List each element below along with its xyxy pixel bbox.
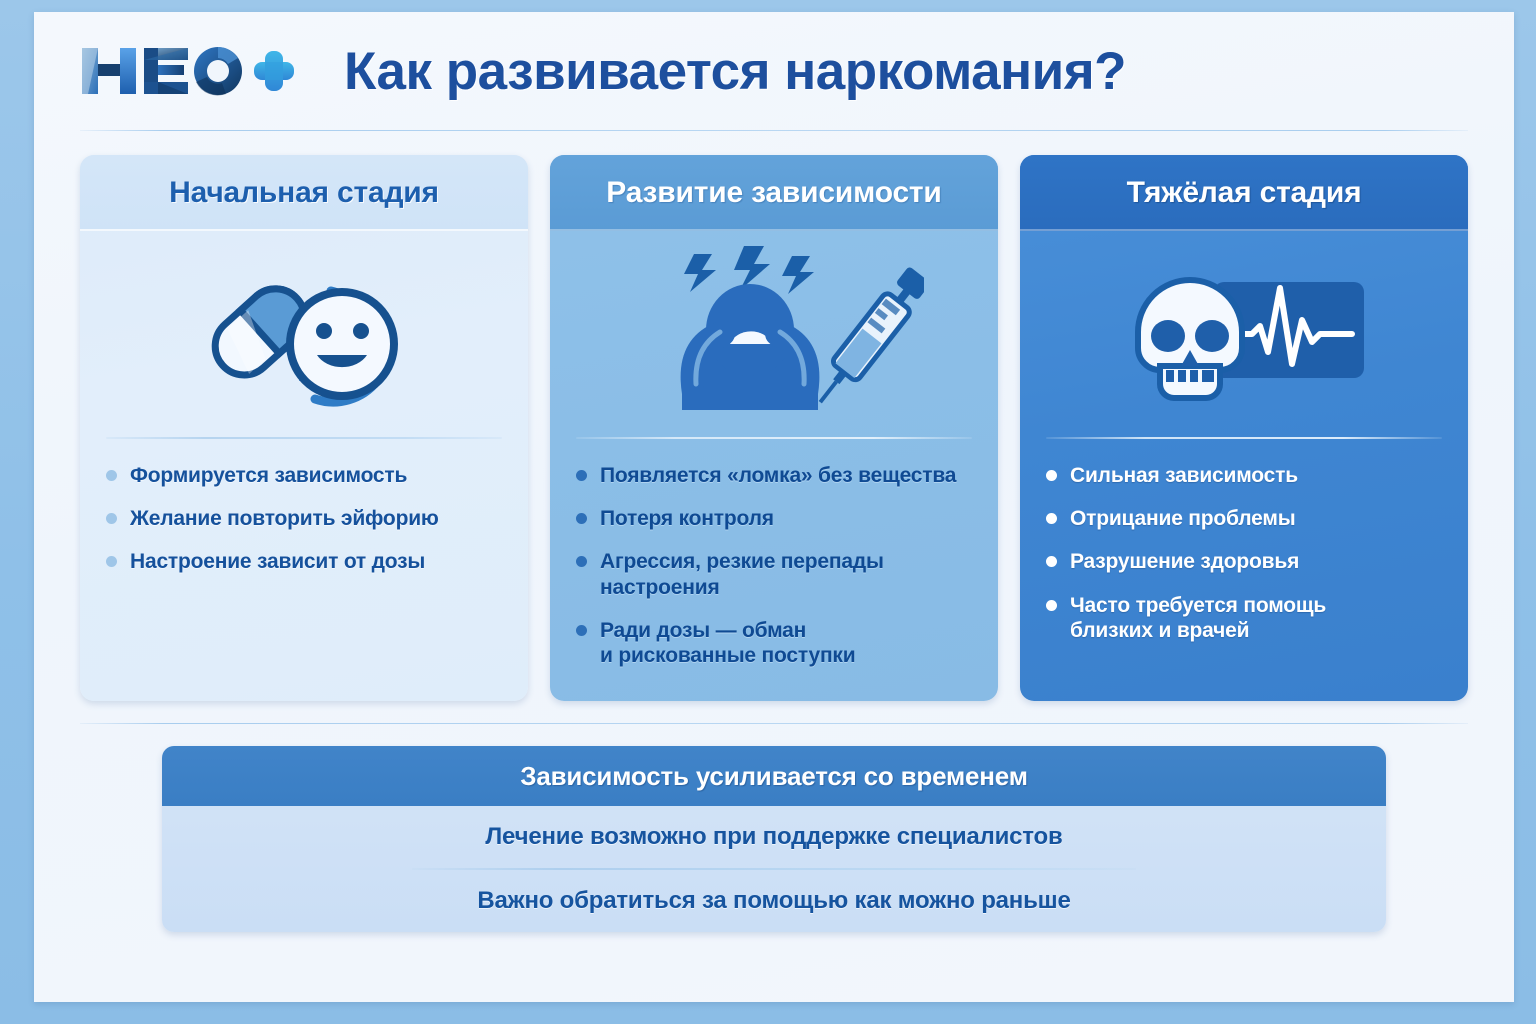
bullet-dot-icon [576,556,587,567]
stage-card-developing[interactable]: Развитие зависимости [550,155,998,701]
list-item-label: Появляется «ломка» без вещества [600,463,956,488]
list-item: Сильная зависимость [1046,463,1442,488]
stage-card-severe-title: Тяжёлая стадия [1020,155,1468,231]
page-panel: Как развивается наркомания? Начальная ст… [34,12,1514,1002]
list-item: Разрушение здоровья [1046,549,1442,574]
stage-card-initial-body: Формируется зависимость Желание повторит… [80,231,528,701]
stage-card-initial-bullets: Формируется зависимость Желание повторит… [80,439,528,575]
stage-card-severe[interactable]: Тяжёлая стадия [1020,155,1468,701]
list-item: Желание повторить эйфорию [106,506,502,531]
list-item: Настроение зависит от дозы [106,549,502,574]
stage-card-severe-bullets: Сильная зависимость Отрицание проблемы Р… [1020,439,1468,643]
list-item: Появляется «ломка» без вещества [576,463,972,488]
stage-card-severe-body: Сильная зависимость Отрицание проблемы Р… [1020,231,1468,701]
list-item-label: Сильная зависимость [1070,463,1298,488]
list-item: Отрицание проблемы [1046,506,1442,531]
bullet-dot-icon [1046,513,1057,524]
bullet-dot-icon [1046,600,1057,611]
stage-card-initial-title: Начальная стадия [80,155,528,231]
list-item: Часто требуется помощь близких и врачей [1046,593,1442,643]
summary-banner: Зависимость усиливается со временем Лече… [162,746,1386,932]
list-item-label: Настроение зависит от дозы [130,549,425,574]
bottom-divider [80,723,1468,724]
list-item-label: Формируется зависимость [130,463,407,488]
stage-card-developing-bullets: Появляется «ломка» без вещества Потеря к… [550,439,998,668]
bullet-dot-icon [1046,470,1057,481]
stressed-person-syringe-icon [550,231,998,437]
bullet-dot-icon [576,625,587,636]
stage-card-developing-title: Развитие зависимости [550,155,998,231]
bullet-dot-icon [106,556,117,567]
summary-headline: Зависимость усиливается со временем [162,746,1386,806]
bullet-dot-icon [106,470,117,481]
list-item-label: Разрушение здоровья [1070,549,1299,574]
bullet-dot-icon [106,513,117,524]
summary-section: Зависимость усиливается со временем Лече… [58,746,1490,932]
bullet-dot-icon [576,513,587,524]
list-item: Агрессия, резкие перепады настроения [576,549,972,599]
list-item-label: Агрессия, резкие перепады настроения [600,549,972,599]
neo-plus-logo [78,40,298,102]
page-title: Как развивается наркомания? [344,41,1126,102]
list-item-label: Отрицание проблемы [1070,506,1295,531]
pill-smiley-cycle-icon [80,231,528,437]
page-header: Как развивается наркомания? [58,12,1490,130]
stages-row: Начальная стадия [58,131,1490,701]
list-item-label: Желание повторить эйфорию [130,506,439,531]
bullet-dot-icon [1046,556,1057,567]
list-item-label: Ради дозы — обман и рискованные поступки [600,618,855,668]
list-item-label: Часто требуется помощь близких и врачей [1070,593,1326,643]
list-item: Потеря контроля [576,506,972,531]
stage-card-initial[interactable]: Начальная стадия [80,155,528,701]
summary-line-2: Важно обратиться за помощью как можно ра… [162,870,1386,932]
bullet-dot-icon [576,470,587,481]
outer-frame: Как развивается наркомания? Начальная ст… [0,0,1536,1024]
summary-line-1: Лечение возможно при поддержке специалис… [162,806,1386,868]
stage-card-developing-body: Появляется «ломка» без вещества Потеря к… [550,231,998,701]
list-item-label: Потеря контроля [600,506,774,531]
list-item: Формируется зависимость [106,463,502,488]
list-item: Ради дозы — обман и рискованные поступки [576,618,972,668]
skull-ecg-monitor-icon [1020,231,1468,437]
